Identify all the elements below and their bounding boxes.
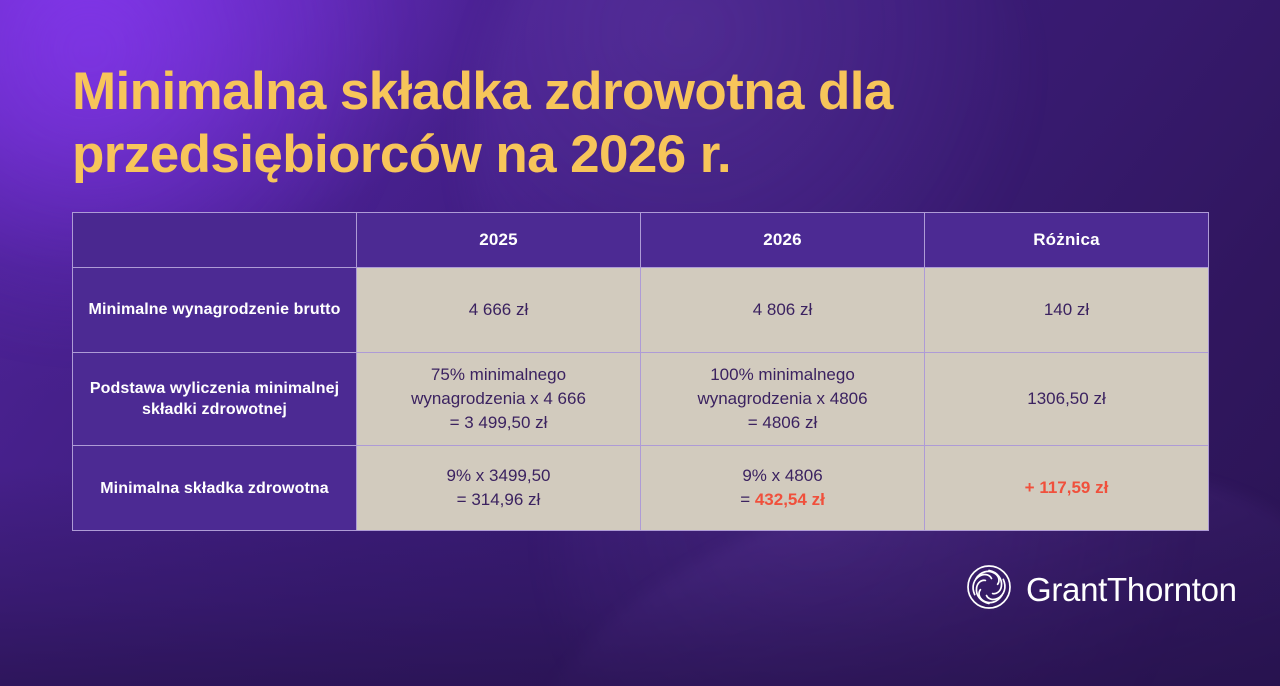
table-header-2026: 2026	[641, 213, 925, 268]
table-body: Minimalne wynagrodzenie brutto 4 666 zł …	[73, 268, 1209, 531]
cell-2025-minimalne-wynagrodzenie: 4 666 zł	[357, 268, 641, 353]
cell-2025-podstawa-wyliczenia: 75% minimalnego wynagrodzenia x 4 666 = …	[357, 353, 641, 446]
table-header: 2025 2026 Różnica	[73, 213, 1209, 268]
comparison-table-container: 2025 2026 Różnica Minimalne wynagrodzeni…	[72, 212, 1208, 531]
brand-logo-word-two: Thornton	[1107, 571, 1237, 608]
brand-logo-word-one: Grant	[1026, 571, 1107, 608]
cell-diff-minimalne-wynagrodzenie: 140 zł	[925, 268, 1209, 353]
table-header-blank	[73, 213, 357, 268]
cell-2026-minimalna-skladka: 9% x 4806 = 432,54 zł	[641, 446, 925, 531]
table-row: Minimalne wynagrodzenie brutto 4 666 zł …	[73, 268, 1209, 353]
table-header-roznica: Różnica	[925, 213, 1209, 268]
table-row: Minimalna składka zdrowotna 9% x 3499,50…	[73, 446, 1209, 531]
cell-diff-podstawa-wyliczenia: 1306,50 zł	[925, 353, 1209, 446]
table-header-2025: 2025	[357, 213, 641, 268]
cell-diff-minimalna-skladka: + 117,59 zł	[925, 446, 1209, 531]
comparison-table: 2025 2026 Różnica Minimalne wynagrodzeni…	[72, 212, 1209, 531]
infographic-canvas: Minimalna składka zdrowotna dla przedsię…	[0, 0, 1280, 686]
table-row: Podstawa wyliczenia minimalnej składki z…	[73, 353, 1209, 446]
cell-2026-minimalne-wynagrodzenie: 4 806 zł	[641, 268, 925, 353]
row-label-minimalna-skladka: Minimalna składka zdrowotna	[73, 446, 357, 531]
page-title: Minimalna składka zdrowotna dla przedsię…	[72, 60, 1132, 186]
grant-thornton-swirl-icon	[966, 564, 1012, 615]
cell-2025-minimalna-skladka: 9% x 3499,50 = 314,96 zł	[357, 446, 641, 531]
cell-2026-podstawa-wyliczenia: 100% minimalnego wynagrodzenia x 4806 = …	[641, 353, 925, 446]
cell-2026-minimalna-skladka-highlight: 432,54 zł	[755, 490, 825, 509]
brand-logo-text: GrantThornton	[1026, 571, 1237, 609]
row-label-podstawa-wyliczenia: Podstawa wyliczenia minimalnej składki z…	[73, 353, 357, 446]
brand-logo: GrantThornton	[966, 564, 1237, 615]
row-label-minimalne-wynagrodzenie: Minimalne wynagrodzenie brutto	[73, 268, 357, 353]
table-header-row: 2025 2026 Różnica	[73, 213, 1209, 268]
